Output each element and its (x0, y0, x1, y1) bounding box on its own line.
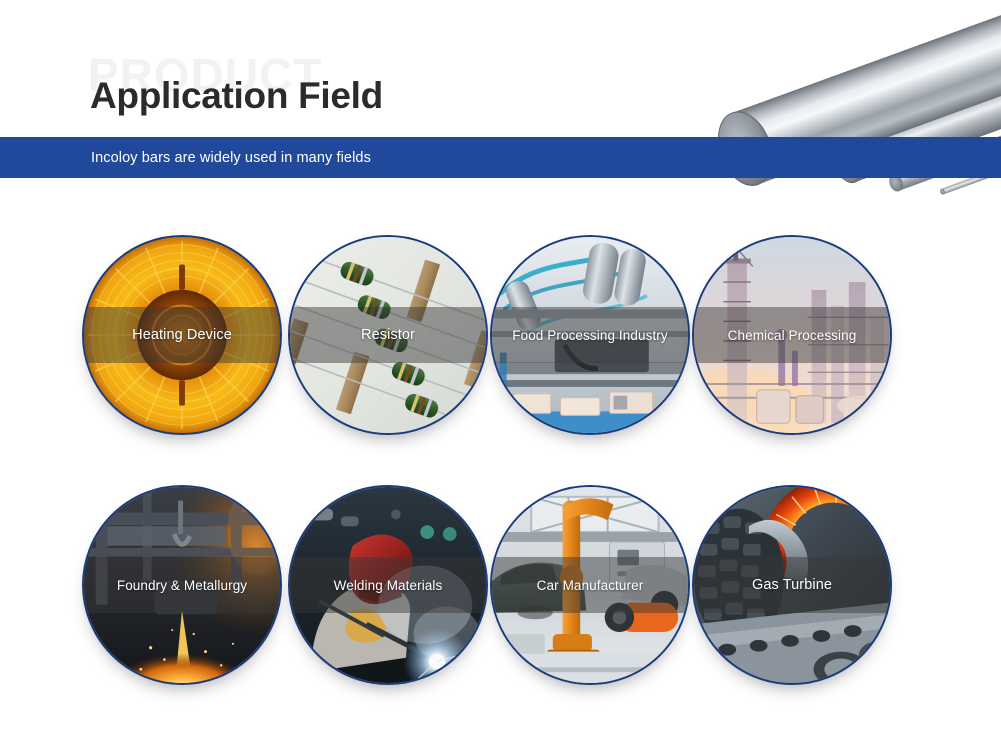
card-label: Resistor (361, 327, 415, 343)
card-circle[interactable]: Resistor (288, 235, 488, 435)
card-label-band: Foundry & Metallurgy (82, 557, 282, 613)
card-circle[interactable]: Foundry & Metallurgy (82, 485, 282, 685)
card-label: Foundry & Metallurgy (117, 578, 247, 593)
card-label-band: Food Processing Industry (490, 307, 690, 363)
card-label: Chemical Processing (728, 328, 857, 343)
card-label: Car Manufacturer (537, 578, 644, 593)
card-label: Gas Turbine (752, 577, 832, 593)
subtitle-text: Incoloy bars are widely used in many fie… (91, 137, 371, 178)
card-foundry-metallurgy[interactable]: Foundry & Metallurgy (82, 485, 282, 685)
card-car-manufacturer[interactable]: Car Manufacturer (490, 485, 690, 685)
card-welding-materials[interactable]: Welding Materials (288, 485, 488, 685)
card-label-band: Car Manufacturer (490, 557, 690, 613)
card-resistor[interactable]: Resistor (288, 235, 488, 435)
card-row-2: Foundry & Metallurgy (0, 485, 1001, 685)
slide-canvas: PRODUCT Application Field (0, 0, 1001, 737)
card-label: Food Processing Industry (512, 328, 667, 343)
card-row-1: Heating Device (0, 235, 1001, 435)
card-circle[interactable]: Chemical Processing (692, 235, 892, 435)
card-circle[interactable]: Welding Materials (288, 485, 488, 685)
page-title: Application Field (90, 76, 383, 117)
card-circle[interactable]: Car Manufacturer (490, 485, 690, 685)
card-circle[interactable]: Food Processing Industry (490, 235, 690, 435)
card-label: Welding Materials (334, 578, 443, 593)
card-heating-device[interactable]: Heating Device (82, 235, 282, 435)
card-circle[interactable]: Gas Turbine (692, 485, 892, 685)
card-label-band: Welding Materials (288, 557, 488, 613)
card-label-band: Gas Turbine (692, 557, 892, 613)
card-label-band: Heating Device (82, 307, 282, 363)
card-circle[interactable]: Heating Device (82, 235, 282, 435)
subtitle-banner: Incoloy bars are widely used in many fie… (0, 137, 1001, 178)
card-label-band: Chemical Processing (692, 307, 892, 363)
card-food-processing-industry[interactable]: Food Processing Industry (490, 235, 690, 435)
card-gas-turbine[interactable]: Gas Turbine (692, 485, 892, 685)
card-chemical-processing[interactable]: Chemical Processing (692, 235, 892, 435)
card-label: Heating Device (132, 327, 232, 343)
card-label-band: Resistor (288, 307, 488, 363)
